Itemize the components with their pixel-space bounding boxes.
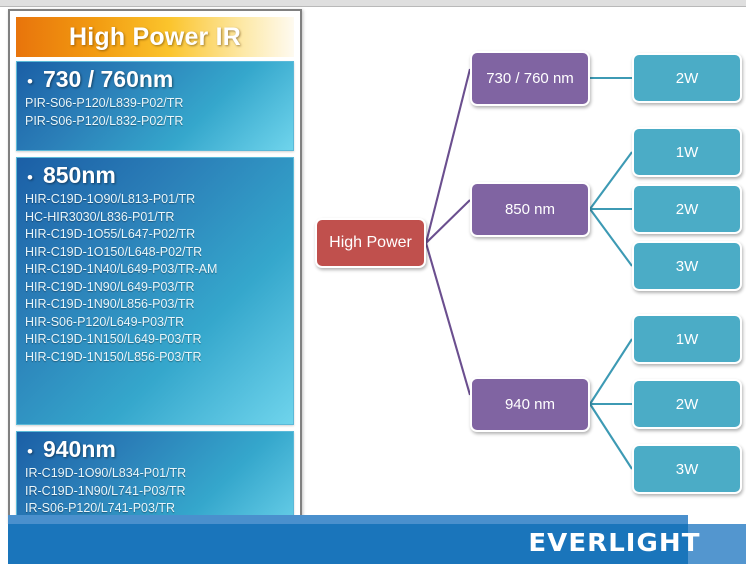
list-item: HC-HIR3030/L836-P01/TR: [25, 209, 293, 227]
panel-inner: High Power IR • 730 / 760nm PIR-S06-P120…: [16, 17, 294, 543]
node-940nm[interactable]: 940 nm: [470, 377, 590, 432]
group-title-row: • 850nm: [17, 158, 293, 190]
list-item: PIR-S06-P120/L832-P02/TR: [25, 113, 293, 131]
part-number-list: HIR-C19D-1O90/L813-P01/TR HC-HIR3030/L83…: [17, 190, 293, 366]
list-item: IR-C19D-1N90/L741-P03/TR: [25, 483, 293, 501]
node-label: 850 nm: [505, 201, 555, 218]
node-label: 2W: [676, 70, 699, 87]
link-850-3w: [590, 209, 632, 266]
node-label: 2W: [676, 201, 699, 218]
link-940-1w: [590, 339, 632, 404]
node-label: 3W: [676, 461, 699, 478]
list-item: HIR-C19D-1N90/L856-P03/TR: [25, 296, 293, 314]
root-branch-lines: [426, 69, 470, 395]
node-label: 2W: [676, 396, 699, 413]
node-label: 3W: [676, 258, 699, 275]
node-label: 730 / 760 nm: [486, 70, 574, 87]
node-850nm[interactable]: 850 nm: [470, 182, 590, 237]
node-label: 1W: [676, 331, 699, 348]
slide-canvas: High Power IR • 730 / 760nm PIR-S06-P120…: [0, 0, 746, 564]
node-850-1w[interactable]: 1W: [632, 127, 742, 177]
list-item: IR-C19D-1O90/L834-P01/TR: [25, 465, 293, 483]
part-number-list: PIR-S06-P120/L839-P02/TR PIR-S06-P120/L8…: [17, 94, 293, 130]
node-850-2w[interactable]: 2W: [632, 184, 742, 234]
bullet-icon: •: [27, 73, 33, 90]
node-850-3w[interactable]: 3W: [632, 241, 742, 291]
top-edge-strip: [0, 0, 746, 7]
list-item: HIR-C19D-1O150/L648-P02/TR: [25, 244, 293, 262]
node-730-2w[interactable]: 2W: [632, 53, 742, 103]
node-label: High Power: [329, 234, 412, 252]
bullet-icon: •: [27, 169, 33, 186]
node-label: 940 nm: [505, 396, 555, 413]
bullet-icon: •: [27, 443, 33, 460]
panel-header: High Power IR: [16, 17, 294, 57]
list-item: HIR-C19D-1N150/L856-P03/TR: [25, 349, 293, 367]
list-item: HIR-C19D-1N90/L649-P03/TR: [25, 279, 293, 297]
wavelength-group-730-760: • 730 / 760nm PIR-S06-P120/L839-P02/TR P…: [16, 61, 294, 151]
node-730-760nm[interactable]: 730 / 760 nm: [470, 51, 590, 106]
group-title-row: • 730 / 760nm: [17, 62, 293, 94]
high-power-ir-panel: High Power IR • 730 / 760nm PIR-S06-P120…: [8, 9, 302, 551]
everlight-logo-text: EVERLIGHT: [528, 528, 700, 557]
node-label: 1W: [676, 144, 699, 161]
group-title: 850nm: [43, 162, 116, 189]
link-850-1w: [590, 152, 632, 209]
group-title-row: • 940nm: [17, 432, 293, 464]
list-item: HIR-C19D-1N150/L649-P03/TR: [25, 331, 293, 349]
list-item: HIR-C19D-1O55/L647-P02/TR: [25, 226, 293, 244]
banner-accent-bar: [8, 515, 688, 524]
leaf-lines-940: [590, 339, 632, 469]
leaf-lines-850: [590, 152, 632, 266]
node-940-2w[interactable]: 2W: [632, 379, 742, 429]
node-940-1w[interactable]: 1W: [632, 314, 742, 364]
banner-left-gap: [0, 524, 8, 564]
group-title: 940nm: [43, 436, 116, 463]
wavelength-group-850: • 850nm HIR-C19D-1O90/L813-P01/TR HC-HIR…: [16, 157, 294, 425]
link-root-to-940: [426, 243, 470, 395]
node-940-3w[interactable]: 3W: [632, 444, 742, 494]
list-item: PIR-S06-P120/L839-P02/TR: [25, 95, 293, 113]
list-item: HIR-C19D-1O90/L813-P01/TR: [25, 191, 293, 209]
list-item: HIR-S06-P120/L649-P03/TR: [25, 314, 293, 332]
node-high-power[interactable]: High Power: [315, 218, 426, 268]
high-power-tree-diagram: High Power 730 / 760 nm 850 nm 940 nm 2W…: [302, 9, 746, 509]
link-940-3w: [590, 404, 632, 469]
group-title: 730 / 760nm: [43, 66, 173, 93]
link-root-to-850: [426, 200, 470, 243]
panel-title: High Power IR: [69, 23, 241, 52]
list-item: HIR-C19D-1N40/L649-P03/TR-AM: [25, 261, 293, 279]
link-root-to-730: [426, 69, 470, 243]
